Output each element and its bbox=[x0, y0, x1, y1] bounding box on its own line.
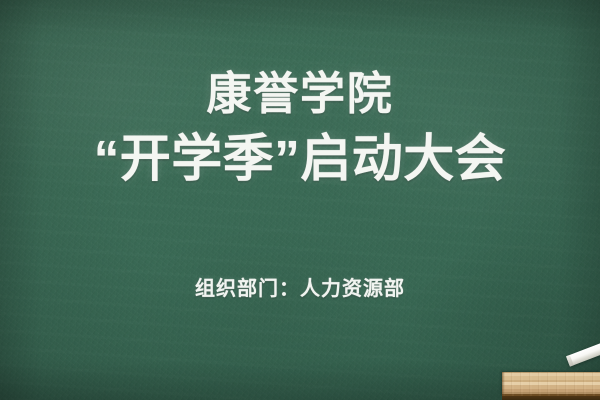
slide-title-line-2: “开学季”启动大会 bbox=[0, 130, 600, 188]
chalk-ledge-wood-grain bbox=[502, 372, 600, 396]
chalk-ledge bbox=[502, 372, 600, 396]
slide-subtitle: 组织部门：人力资源部 bbox=[0, 275, 600, 303]
slide-title-line-1: 康誉学院 bbox=[0, 68, 600, 120]
chalk-ledge-left-cap bbox=[502, 372, 505, 396]
chalkboard-slide: 康誉学院 “开学季”启动大会 组织部门：人力资源部 bbox=[0, 0, 600, 400]
slide-text-layer: 康誉学院 “开学季”启动大会 组织部门：人力资源部 bbox=[0, 0, 600, 400]
